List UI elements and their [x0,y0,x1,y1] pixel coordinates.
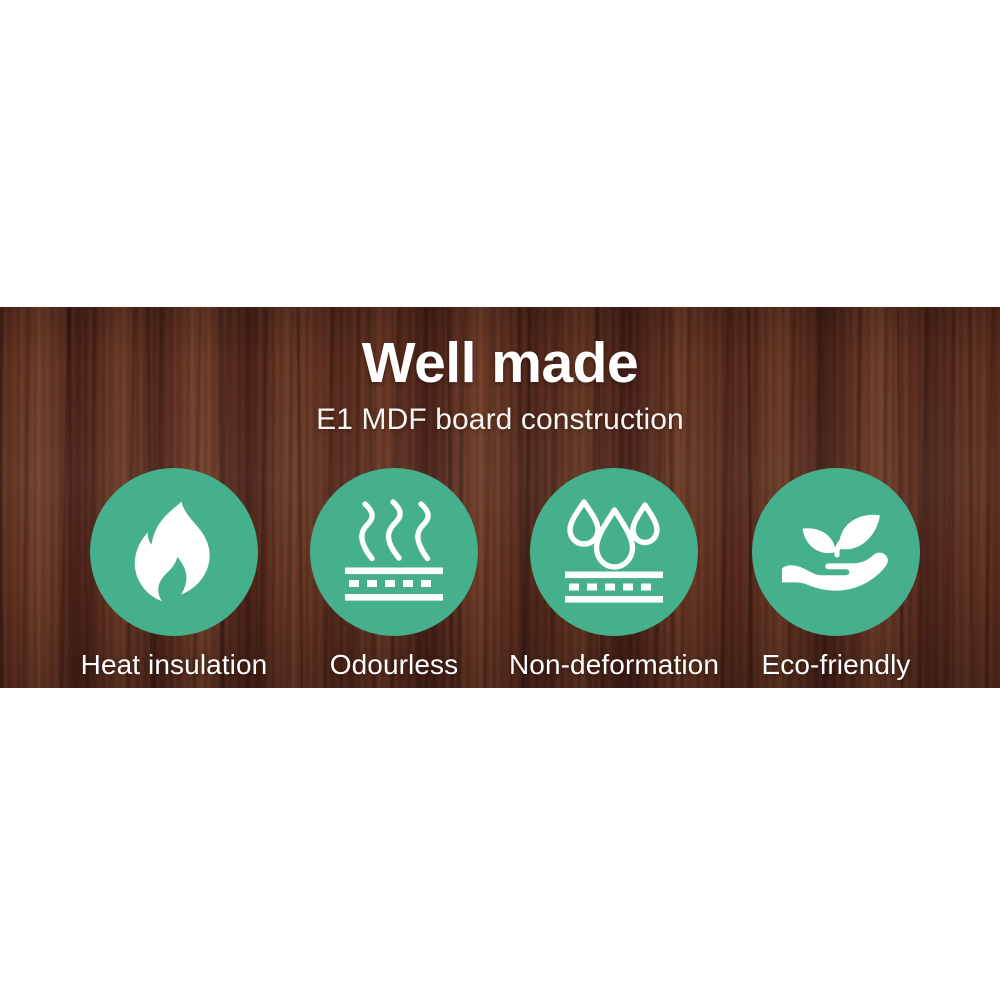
feature-label: Non-deformation [504,649,724,681]
feature-eco-friendly: Eco-friendly [726,468,946,681]
vapour-waves-over-board-icon [339,498,449,606]
feature-odourless: Odourless [284,468,504,681]
feature-label: Heat insulation [64,649,284,681]
feature-icon-disc [310,468,478,636]
feature-icon-disc [90,468,258,636]
feature-icon-disc [752,468,920,636]
feature-non-deformation: Non-deformation [504,468,724,681]
water-drops-over-board-icon [558,497,670,607]
feature-label: Eco-friendly [726,649,946,681]
product-feature-banner: Well made E1 MDF board construction Heat… [0,0,1000,1000]
hand-holding-plant-icon [774,497,898,607]
feature-heat-insulation: Heat insulation [64,468,284,681]
feature-label: Odourless [284,649,504,681]
flame-icon [128,500,220,604]
wood-background-panel: Well made E1 MDF board construction Heat… [0,307,1000,688]
feature-icon-disc [530,468,698,636]
